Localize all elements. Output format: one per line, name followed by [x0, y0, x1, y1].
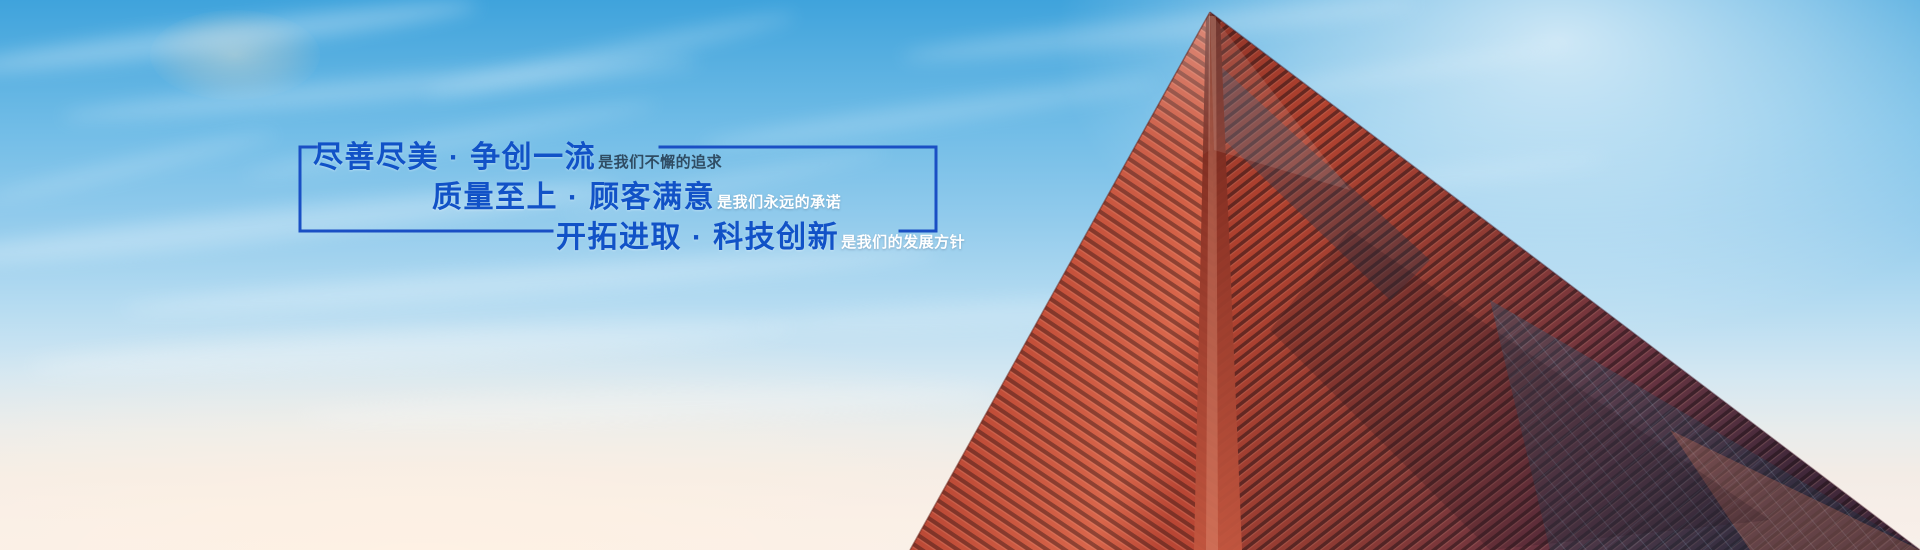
slogan-line-2: 质量至上 · 顾客满意 是我们永远的承诺 — [432, 172, 841, 216]
slogan-line-3-sub: 是我们的发展方针 — [841, 231, 965, 252]
hero-banner: 尽善尽美 · 争创一流 是我们不懈的追求 质量至上 · 顾客满意 是我们永远的承… — [0, 0, 1920, 550]
slogan-line-2-sub: 是我们永远的承诺 — [717, 191, 841, 212]
slogan-line-2-main: 质量至上 · 顾客满意 — [432, 172, 715, 216]
slogan-line-1-main: 尽善尽美 · 争创一流 — [313, 132, 596, 176]
slogan-group: 尽善尽美 · 争创一流 是我们不懈的追求 质量至上 · 顾客满意 是我们永远的承… — [0, 0, 960, 550]
slogan-line-1: 尽善尽美 · 争创一流 是我们不懈的追求 — [313, 132, 722, 176]
slogan-line-3: 开拓进取 · 科技创新 是我们的发展方针 — [556, 212, 965, 256]
slogan-line-1-sub: 是我们不懈的追求 — [598, 151, 722, 172]
slogan-line-3-main: 开拓进取 · 科技创新 — [556, 212, 839, 256]
building-mass — [910, 12, 1920, 550]
